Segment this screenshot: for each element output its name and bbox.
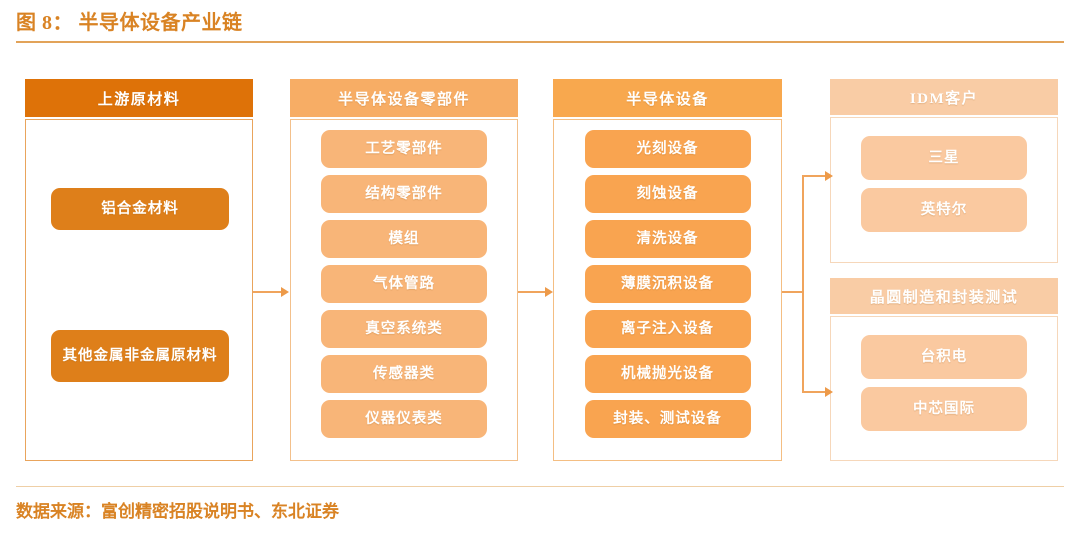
node-process-components[interactable]: 工艺零部件 [321,130,487,168]
connector-components-to-equipment-line [518,291,547,293]
connector-raw-to-components-line [253,291,283,293]
connector-equipment-to-foundry-arrow [825,387,833,397]
node-other-metal-nonmetal-raw-material[interactable]: 其他金属非金属原材料 [51,330,229,382]
panel-header-foundry-packaging-test: 晶圆制造和封装测试 [830,278,1058,314]
column-header-upstream-raw-materials: 上游原材料 [25,79,253,117]
connector-equipment-to-foundry-line [802,391,827,393]
node-vacuum-system[interactable]: 真空系统类 [321,310,487,348]
connector-equipment-to-idm-arrow [825,171,833,181]
node-lithography-equipment[interactable]: 光刻设备 [585,130,751,168]
node-sensors[interactable]: 传感器类 [321,355,487,393]
node-cleaning-equipment[interactable]: 清洗设备 [585,220,751,258]
industry-chain-diagram: 上游原材料 铝合金材料 其他金属非金属原材料 半导体设备零部件 工艺零部件 结构… [0,0,1080,486]
node-modules[interactable]: 模组 [321,220,487,258]
source-note: 数据来源：富创精密招股说明书、东北证券 [16,497,339,522]
node-gas-piping[interactable]: 气体管路 [321,265,487,303]
node-cmp-equipment[interactable]: 机械抛光设备 [585,355,751,393]
panel-body-idm-customers: 三星 英特尔 [830,117,1058,263]
connector-equipment-to-idm-line [802,175,827,177]
node-aluminum-alloy-material[interactable]: 铝合金材料 [51,188,229,230]
column-header-semiconductor-equipment: 半导体设备 [553,79,782,117]
node-smic[interactable]: 中芯国际 [861,387,1027,431]
panel-header-idm-customers: IDM客户 [830,79,1058,115]
column-header-equipment-components: 半导体设备零部件 [290,79,518,117]
node-intel[interactable]: 英特尔 [861,188,1027,232]
node-samsung[interactable]: 三星 [861,136,1027,180]
node-structural-components[interactable]: 结构零部件 [321,175,487,213]
node-ion-implantation-equipment[interactable]: 离子注入设备 [585,310,751,348]
node-instruments-meters[interactable]: 仪器仪表类 [321,400,487,438]
node-etching-equipment[interactable]: 刻蚀设备 [585,175,751,213]
column-body-equipment-components: 工艺零部件 结构零部件 模组 气体管路 真空系统类 传感器类 仪器仪表类 [290,119,518,461]
connector-components-to-equipment-arrow [545,287,553,297]
node-thin-film-deposition-equipment[interactable]: 薄膜沉积设备 [585,265,751,303]
connector-equipment-branch-stem [782,291,804,293]
connector-raw-to-components-arrow [281,287,289,297]
column-body-upstream-raw-materials: 铝合金材料 其他金属非金属原材料 [25,119,253,461]
column-body-semiconductor-equipment: 光刻设备 刻蚀设备 清洗设备 薄膜沉积设备 离子注入设备 机械抛光设备 封装、测… [553,119,782,461]
footer-divider [16,486,1064,487]
node-tsmc[interactable]: 台积电 [861,335,1027,379]
node-packaging-test-equipment[interactable]: 封装、测试设备 [585,400,751,438]
panel-body-foundry-packaging-test: 台积电 中芯国际 [830,316,1058,461]
connector-equipment-branch-trunk [802,175,804,393]
